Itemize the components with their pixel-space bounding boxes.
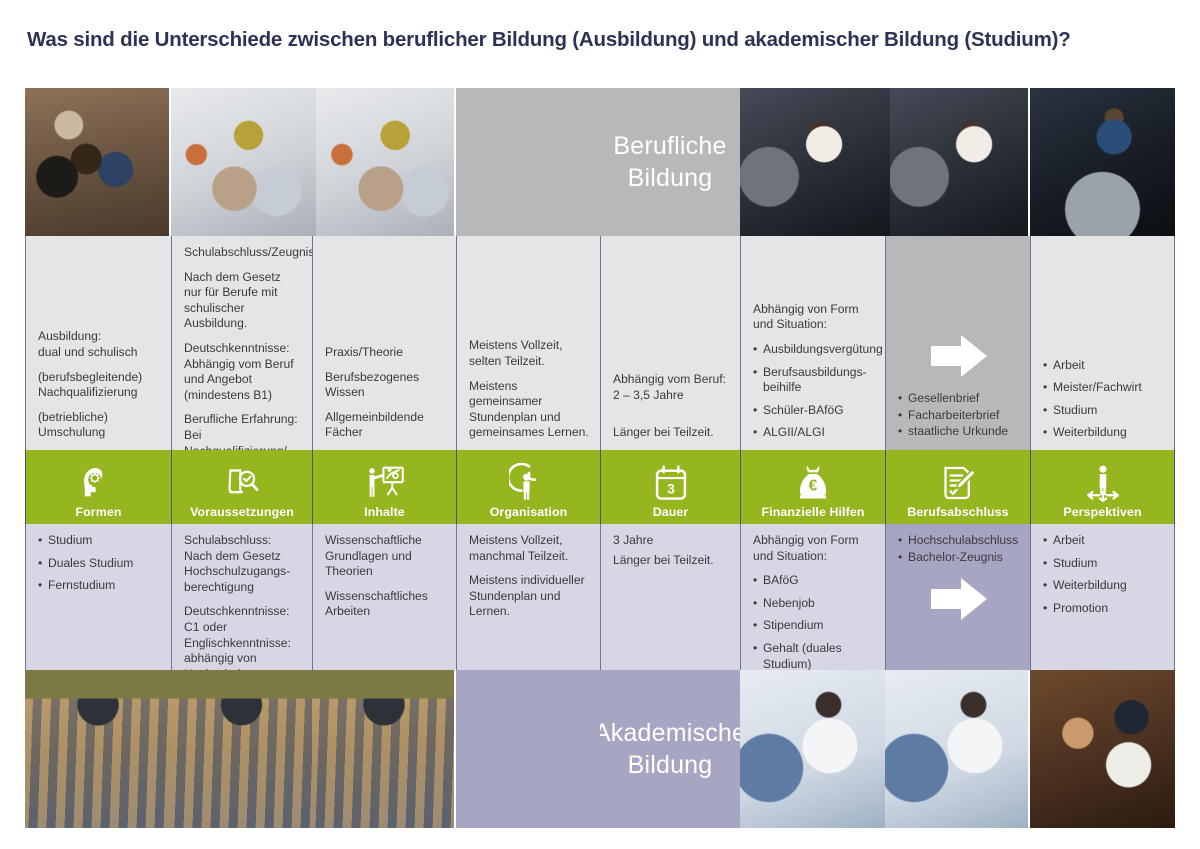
banner-line-2: Bildung [628,751,713,779]
list-item: Weiterbildung [1043,425,1163,441]
svg-text:3: 3 [667,481,675,497]
text-paragraph: Meistens Vollzeit, manchmal Teilzeit. [469,533,589,564]
cell-academic-inhalte: Wissenschaftliche Grundlagen und Theorie… [312,524,456,670]
cell-academic-dauer: 3 Jahre Länger bei Teilzeit. [600,524,740,670]
list-item: BAföG [753,573,874,589]
lecture-hall-photo-a [25,670,171,828]
business-meeting-photo [1030,670,1175,828]
category-label: Inhalte [364,505,405,519]
presenter-whiteboard-icon [364,461,406,505]
category-band: Formen Voraussetzungen [25,450,1175,524]
cell-academic-formen: Studium Duales Studium Fernstudium [25,524,171,670]
list-item: Facharbeiterbrief [898,408,1019,424]
category-label: Organisation [490,505,568,519]
seminar-room-photo-b [312,88,456,236]
category-organisation[interactable]: Organisation [456,450,600,524]
text-paragraph: Schulabschluss/Zeugnis: [184,245,301,261]
category-finanzielle[interactable]: € Finanzielle Hilfen [740,450,885,524]
list-item: Duales Studium [38,556,160,572]
text-paragraph: Berufsbezogenes Wissen [325,370,445,401]
list-item: Bachelor-Zeugnis [898,550,1019,566]
bullet-list: Arbeit Studium Weiterbildung Promotion [1043,533,1163,616]
category-label: Formen [75,505,121,519]
academic-text-band: Studium Duales Studium Fernstudium Schul… [25,524,1175,670]
workshop-training-photo [25,88,171,236]
list-item: Promotion [1043,601,1163,617]
arrow-right-icon [898,578,1019,620]
category-label: Perspektiven [1063,505,1141,519]
cell-academic-perspektiven: Arbeit Studium Weiterbildung Promotion [1030,524,1175,670]
category-dauer[interactable]: 3 Dauer [600,450,740,524]
academic-photo-band: Akademische Bildung [25,670,1175,828]
category-label: Voraussetzungen [190,505,294,519]
list-item: staatliche Urkunde [898,424,1019,440]
cell-vocational-dauer: Abhängig vom Beruf: 2 – 3,5 Jahre Länger… [600,236,740,450]
head-gear-icon [79,461,119,505]
text-paragraph: Abhängig von Form und Situation: [753,533,874,564]
svg-text:€: € [809,477,818,494]
bullet-list: Gesellenbrief Facharbeiterbrief staatlic… [898,391,1019,441]
text-paragraph: Abhängig von Form und Situation: [753,302,874,333]
category-inhalte[interactable]: Inhalte [312,450,456,524]
text-paragraph: Ausbildung: dual und schulisch [38,329,160,360]
cell-academic-organisation: Meistens Vollzeit, manchmal Teilzeit. Me… [456,524,600,670]
text-paragraph: Meistens Vollzeit, selten Teilzeit. [469,338,589,369]
text-paragraph: Nach dem Gesetz nur für Berufe mit schul… [184,270,301,332]
cell-academic-finanzielle: Abhängig von Form und Situation: BAföG N… [740,524,885,670]
lecture-hall-photo-b [171,670,312,828]
vocational-banner: Berufliche Bildung [600,88,740,236]
doctor-consultation-photo-a [740,670,885,828]
list-item: Arbeit [1043,358,1163,374]
bullet-list: Ausbildungsvergütung Berufsausbildungs-b… [753,342,874,441]
bullet-list: Hochschulabschluss Bachelor-Zeugnis [898,533,1019,566]
academic-banner-left [456,670,600,828]
infographic-page: Was sind die Unterschiede zwischen beruf… [0,0,1200,849]
arrow-right-icon [898,335,1019,377]
academic-banner-label: Akademische Bildung [600,717,740,781]
text-paragraph: Länger bei Teilzeit. [613,553,729,569]
list-item: Studium [1043,556,1163,572]
bullet-list: Studium Duales Studium Fernstudium [38,533,160,594]
list-item: Fernstudium [38,578,160,594]
page-title: Was sind die Unterschiede zwischen beruf… [27,28,1187,52]
cell-academic-berufsabschluss: Hochschulabschluss Bachelor-Zeugnis [885,524,1030,670]
retail-apprentice-photo-b [885,88,1030,236]
list-item: Gesellenbrief [898,391,1019,407]
doctor-consultation-photo-b [885,670,1030,828]
person-clock-icon [509,461,549,505]
category-label: Dauer [653,505,689,519]
category-formen[interactable]: Formen [25,450,171,524]
text-paragraph: Meistens individueller Stundenplan und L… [469,573,589,620]
text-paragraph: Berufliche Erfahrung: Bei Nachqualifizie… [184,412,301,450]
category-label: Berufsabschluss [907,505,1008,519]
banner-line-1: Akademische [600,719,740,747]
vocational-banner-left [456,88,600,236]
vocational-banner-label: Berufliche Bildung [613,130,726,194]
vocational-photo-band: Berufliche Bildung [25,88,1175,236]
list-item: Ausbildungsvergütung [753,342,874,358]
person-arrows-icon [1081,461,1125,505]
cell-vocational-organisation: Meistens Vollzeit, selten Teilzeit. Meis… [456,236,600,450]
cell-vocational-finanzielle: Abhängig von Form und Situation: Ausbild… [740,236,885,450]
list-item: Nebenjob [753,596,874,612]
bullet-list: BAföG Nebenjob Stipendium Gehalt (duales… [753,573,874,670]
category-perspektiven[interactable]: Perspektiven [1030,450,1175,524]
category-label: Finanzielle Hilfen [761,505,864,519]
calendar-3-icon: 3 [653,461,689,505]
text-paragraph: Deutschkenntnisse: Abhängig vom Beruf un… [184,341,301,403]
list-item: Weiterbildung [1043,578,1163,594]
factory-worker-photo [1030,88,1175,236]
list-item: Schüler-BAföG [753,403,874,419]
text-paragraph: Wissenschaftliches Arbeiten [325,589,445,620]
text-paragraph: Allgemeinbildende Fächer [325,410,445,441]
cell-vocational-perspektiven: Arbeit Meister/Fachwirt Studium Weiterbi… [1030,236,1175,450]
banner-line-2: Bildung [628,164,713,192]
text-paragraph: Wissenschaftliche Grundlagen und Theorie… [325,533,445,580]
list-item: Meister/Fachwirt [1043,380,1163,396]
list-item: Studium [38,533,160,549]
academic-banner: Akademische Bildung [600,670,740,828]
banner-line-1: Berufliche [613,132,726,160]
money-bag-euro-icon: € [795,461,831,505]
list-item: Stipendium [753,618,874,634]
list-item: Hochschulabschluss [898,533,1019,549]
text-paragraph: Meistens gemeinsamer Stundenplan und gem… [469,379,589,441]
vocational-text-band: Ausbildung: dual und schulisch (berufsbe… [25,236,1175,450]
seminar-room-photo-a [171,88,312,236]
text-paragraph: (betriebliche) Umschulung [38,410,160,441]
document-magnifier-check-icon [222,461,262,505]
category-berufsabschluss[interactable]: Berufsabschluss [885,450,1030,524]
category-voraussetzungen[interactable]: Voraussetzungen [171,450,312,524]
text-paragraph: Deutschkenntnisse: C1 oder Englischkennt… [184,604,301,670]
text-paragraph: (berufsbegleitende) Nachqualifizierung [38,370,160,401]
text-paragraph: Abhängig vom Beruf: 2 – 3,5 Jahre [613,372,729,403]
list-item: Berufsausbildungs-beihilfe [753,365,874,396]
retail-apprentice-photo [740,88,885,236]
certificate-pen-icon [938,461,978,505]
text-paragraph: Praxis/Theorie [325,345,445,361]
lecture-hall-photo-c [312,670,456,828]
comparison-grid: Berufliche Bildung Ausbildung: dual und … [25,88,1175,828]
list-item: Arbeit [1043,533,1163,549]
list-item: Gehalt (duales Studium) [753,641,874,670]
cell-academic-voraussetzungen: Schulabschluss: Nach dem Gesetz Hochschu… [171,524,312,670]
cell-vocational-voraussetzungen: Schulabschluss/Zeugnis: Nach dem Gesetz … [171,236,312,450]
cell-vocational-berufsabschluss: Gesellenbrief Facharbeiterbrief staatlic… [885,236,1030,450]
bullet-list: Arbeit Meister/Fachwirt Studium Weiterbi… [1043,358,1163,441]
list-item: Studium [1043,403,1163,419]
cell-vocational-inhalte: Praxis/Theorie Berufsbezogenes Wissen Al… [312,236,456,450]
text-paragraph: Schulabschluss: Nach dem Gesetz Hochschu… [184,533,301,595]
cell-vocational-formen: Ausbildung: dual und schulisch (berufsbe… [25,236,171,450]
list-item: ALGII/ALGI [753,425,874,441]
text-paragraph: Länger bei Teilzeit. [613,425,729,441]
text-paragraph: 3 Jahre [613,533,729,549]
